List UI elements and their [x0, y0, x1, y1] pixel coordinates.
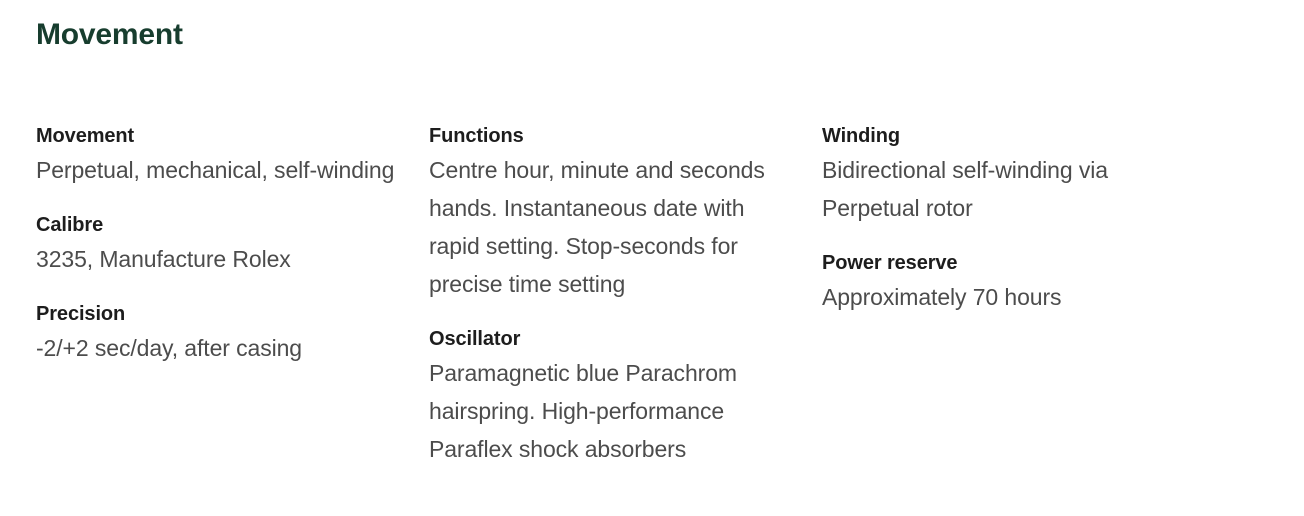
spec-label: Precision — [36, 300, 401, 329]
spec-label: Winding — [822, 122, 1187, 151]
spec-block-power-reserve: Power reserve Approximately 70 hours — [822, 249, 1187, 316]
spec-label: Movement — [36, 122, 401, 151]
spec-value: 3235, Manufacture Rolex — [36, 240, 401, 278]
spec-block-movement: Movement Perpetual, mechanical, self-win… — [36, 122, 401, 189]
spec-columns: Movement Perpetual, mechanical, self-win… — [36, 122, 1268, 468]
spec-value: Paramagnetic blue Parachrom hairspring. … — [429, 354, 794, 468]
spec-column-2: Functions Centre hour, minute and second… — [429, 122, 794, 468]
spec-value: Centre hour, minute and seconds hands. I… — [429, 151, 794, 303]
spec-label: Functions — [429, 122, 794, 151]
spec-label: Power reserve — [822, 249, 1187, 278]
page-title: Movement — [36, 16, 183, 54]
movement-spec-section: Movement Movement Perpetual, mechanical,… — [0, 0, 1304, 516]
spec-value: Bidirectional self-winding via Perpetual… — [822, 151, 1187, 227]
spec-block-oscillator: Oscillator Paramagnetic blue Parachrom h… — [429, 325, 794, 468]
spec-value: Perpetual, mechanical, self-winding — [36, 151, 401, 189]
spec-label: Calibre — [36, 211, 401, 240]
spec-value: Approximately 70 hours — [822, 278, 1187, 316]
spec-value: -2/+2 sec/day, after casing — [36, 329, 401, 367]
spec-block-winding: Winding Bidirectional self-winding via P… — [822, 122, 1187, 227]
spec-block-calibre: Calibre 3235, Manufacture Rolex — [36, 211, 401, 278]
spec-block-precision: Precision -2/+2 sec/day, after casing — [36, 300, 401, 367]
spec-column-1: Movement Perpetual, mechanical, self-win… — [36, 122, 401, 367]
spec-column-3: Winding Bidirectional self-winding via P… — [822, 122, 1187, 316]
spec-block-functions: Functions Centre hour, minute and second… — [429, 122, 794, 303]
spec-label: Oscillator — [429, 325, 794, 354]
